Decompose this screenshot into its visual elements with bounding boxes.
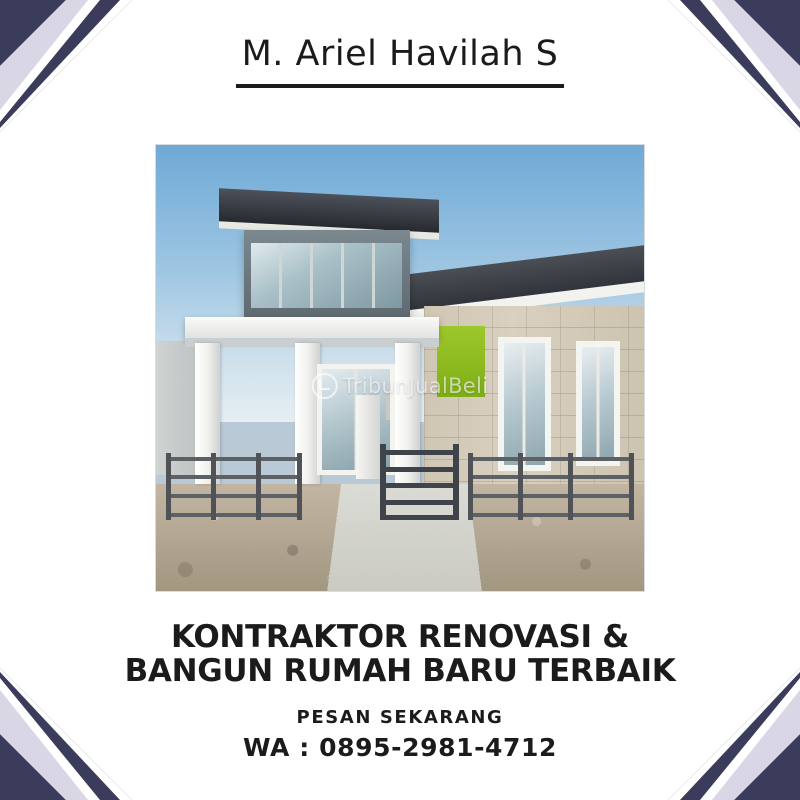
watermark-logo-icon (312, 373, 338, 399)
house-photo: TribunJualBeli (155, 144, 645, 592)
window-right-1 (498, 337, 552, 471)
railing-left (166, 453, 303, 520)
poster-canvas: M. Ariel Havilah S (0, 0, 800, 800)
page-title: M. Ariel Havilah S (236, 34, 565, 88)
portico-roof (185, 317, 439, 339)
whatsapp-number[interactable]: WA : 0895-2981-4712 (0, 733, 800, 762)
watermark-text: TribunJualBeli (343, 374, 489, 398)
watermark: TribunJualBeli (312, 373, 489, 399)
header: M. Ariel Havilah S (0, 34, 800, 88)
railing-right (468, 453, 634, 520)
gate-post (356, 395, 380, 480)
upper-storey-glass (251, 243, 402, 308)
front-gate (380, 444, 458, 520)
headline: KONTRAKTOR RENOVASI & BANGUN RUMAH BARU … (0, 620, 800, 688)
cta-text: PESAN SEKARANG (0, 707, 800, 728)
headline-line-1: KONTRAKTOR RENOVASI & (0, 620, 800, 654)
house-photo-illustration: TribunJualBeli (156, 145, 644, 591)
window-right-2 (576, 341, 620, 466)
headline-line-2: BANGUN RUMAH BARU TERBAIK (0, 654, 800, 688)
